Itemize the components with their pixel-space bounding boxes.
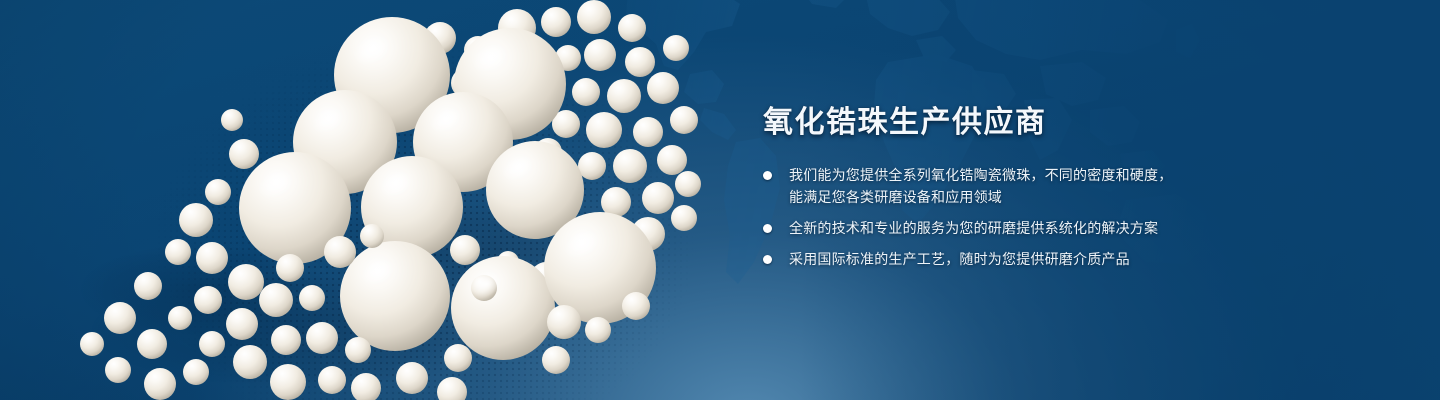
bullet-dot-icon [763,255,772,264]
list-item: 采用国际标准的生产工艺，随时为您提供研磨介质产品 [763,248,1233,270]
page-title: 氧化锆珠生产供应商 [763,104,1233,142]
list-item: 全新的技术和专业的服务为您的研磨提供系统化的解决方案 [763,217,1233,239]
list-item-line1: 采用国际标准的生产工艺，随时为您提供研磨介质产品 [789,248,1233,270]
banner-copy: 氧化锆珠生产供应商 我们能为您提供全系列氧化锆陶瓷微珠，不同的密度和硬度， 能满… [763,104,1233,270]
list-item-line1: 我们能为您提供全系列氧化锆陶瓷微珠，不同的密度和硬度， [789,164,1233,186]
list-item-line1: 全新的技术和专业的服务为您的研磨提供系统化的解决方案 [789,217,1233,239]
bullet-dot-icon [763,171,772,180]
bullet-dot-icon [763,224,772,233]
zirconia-beads-photo [0,0,760,400]
list-item-line2: 能满足您各类研磨设备和应用领域 [789,186,1233,208]
list-item: 我们能为您提供全系列氧化锆陶瓷微珠，不同的密度和硬度， 能满足您各类研磨设备和应… [763,164,1233,208]
hero-banner: 氧化锆珠生产供应商 我们能为您提供全系列氧化锆陶瓷微珠，不同的密度和硬度， 能满… [0,0,1440,400]
feature-list: 我们能为您提供全系列氧化锆陶瓷微珠，不同的密度和硬度， 能满足您各类研磨设备和应… [763,164,1233,270]
